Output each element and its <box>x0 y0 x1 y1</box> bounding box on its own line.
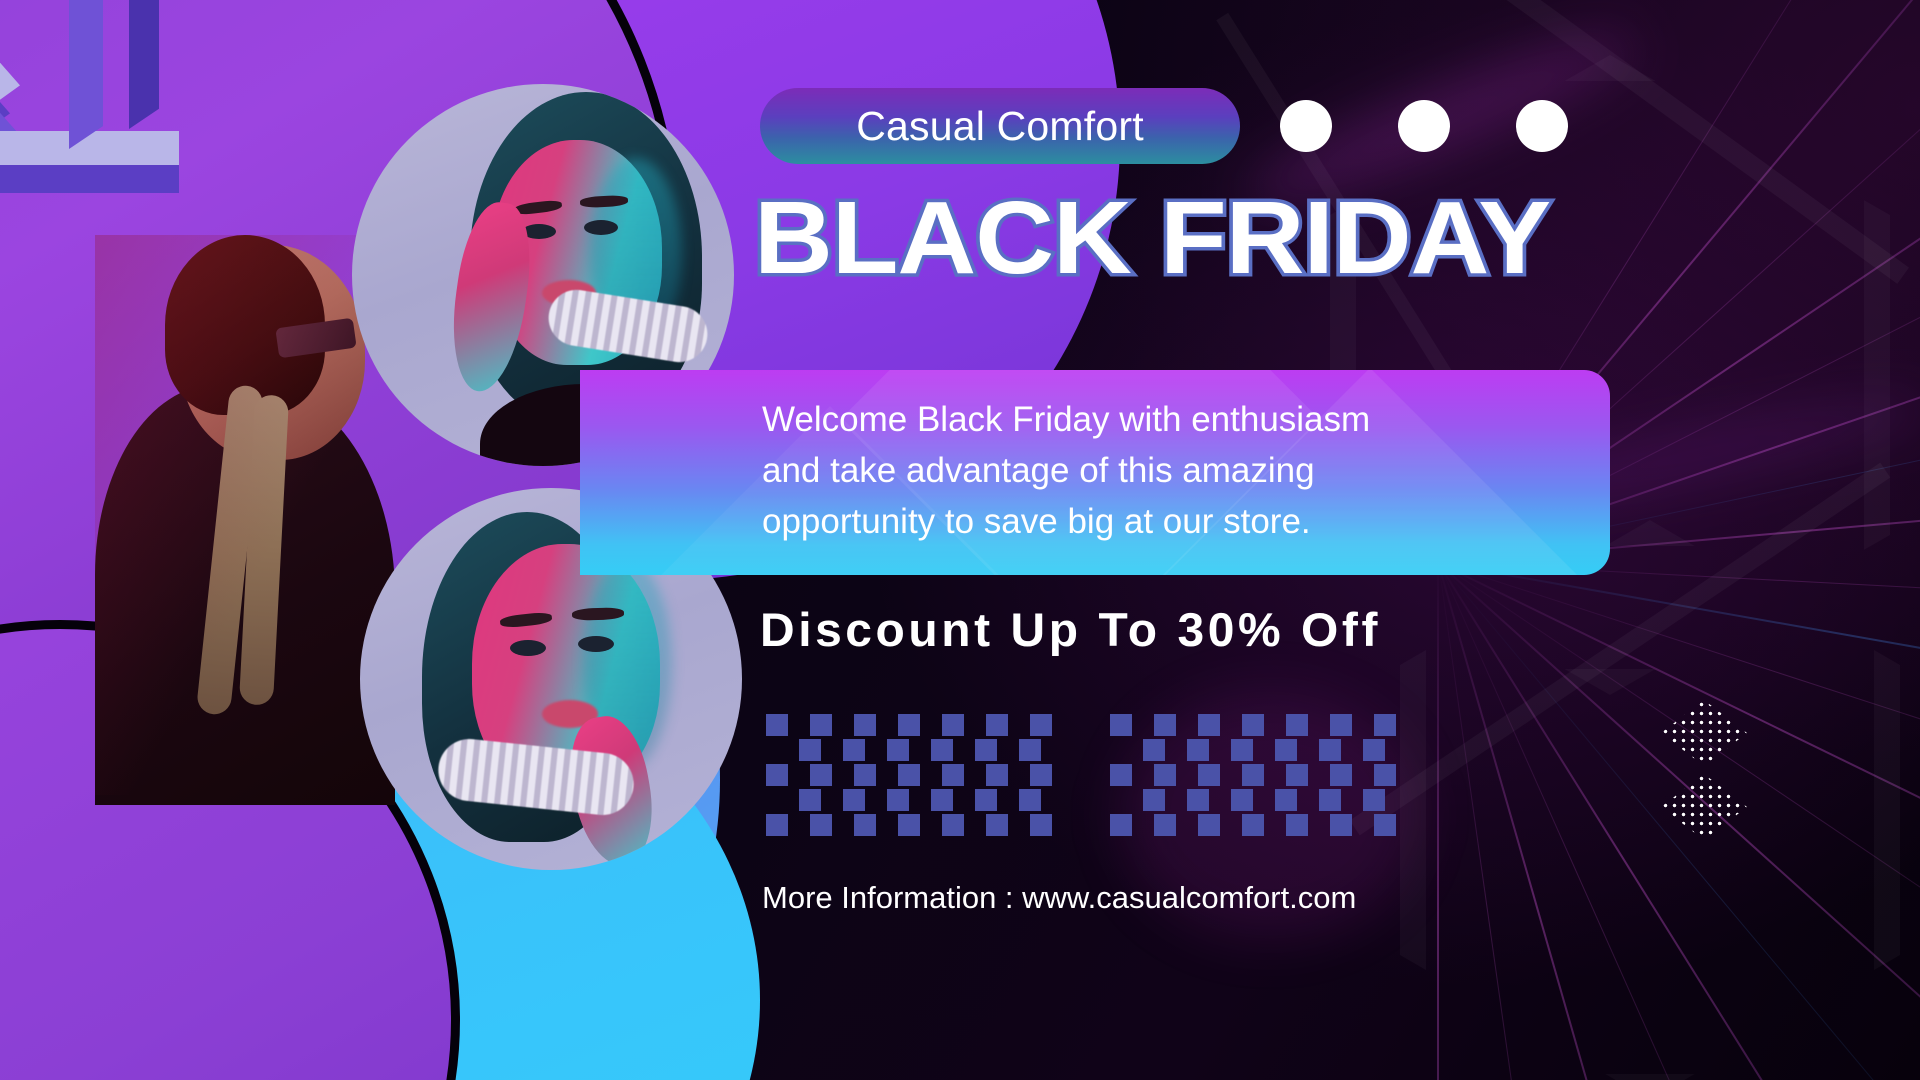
brand-pill-label: Casual Comfort <box>856 103 1144 150</box>
promo-line-1: Welcome Black Friday with enthusiasm <box>762 394 1562 445</box>
chevron-motif-bottom <box>0 989 189 1080</box>
checker-decoration <box>766 714 1410 836</box>
more-information-text: More Information : www.casualcomfort.com <box>762 880 1356 916</box>
content-column: Casual Comfort BLACK FRIDAY Welcome Blac… <box>760 0 1920 1080</box>
dot-3 <box>1516 100 1568 152</box>
checker-block-2 <box>1110 714 1410 836</box>
dot-1 <box>1280 100 1332 152</box>
promo-line-3: opportunity to save big at our store. <box>762 496 1562 547</box>
discount-headline: Discount Up To 30% Off <box>760 602 1381 657</box>
dots-decoration <box>1280 100 1568 152</box>
promo-text-panel: Welcome Black Friday with enthusiasm and… <box>580 370 1610 575</box>
black-friday-banner: Casual Comfort BLACK FRIDAY Welcome Blac… <box>0 0 1920 1080</box>
diamond-icon-1 <box>1661 700 1747 766</box>
diamond-dots-decoration <box>1656 700 1752 844</box>
brand-pill[interactable]: Casual Comfort <box>760 88 1240 164</box>
checker-block-1 <box>766 714 1066 836</box>
dot-2 <box>1398 100 1450 152</box>
promo-text: Welcome Black Friday with enthusiasm and… <box>762 394 1562 547</box>
page-title: BLACK FRIDAY <box>754 186 1814 289</box>
promo-line-2: and take advantage of this amazing <box>762 445 1562 496</box>
diamond-icon-2 <box>1661 774 1747 840</box>
